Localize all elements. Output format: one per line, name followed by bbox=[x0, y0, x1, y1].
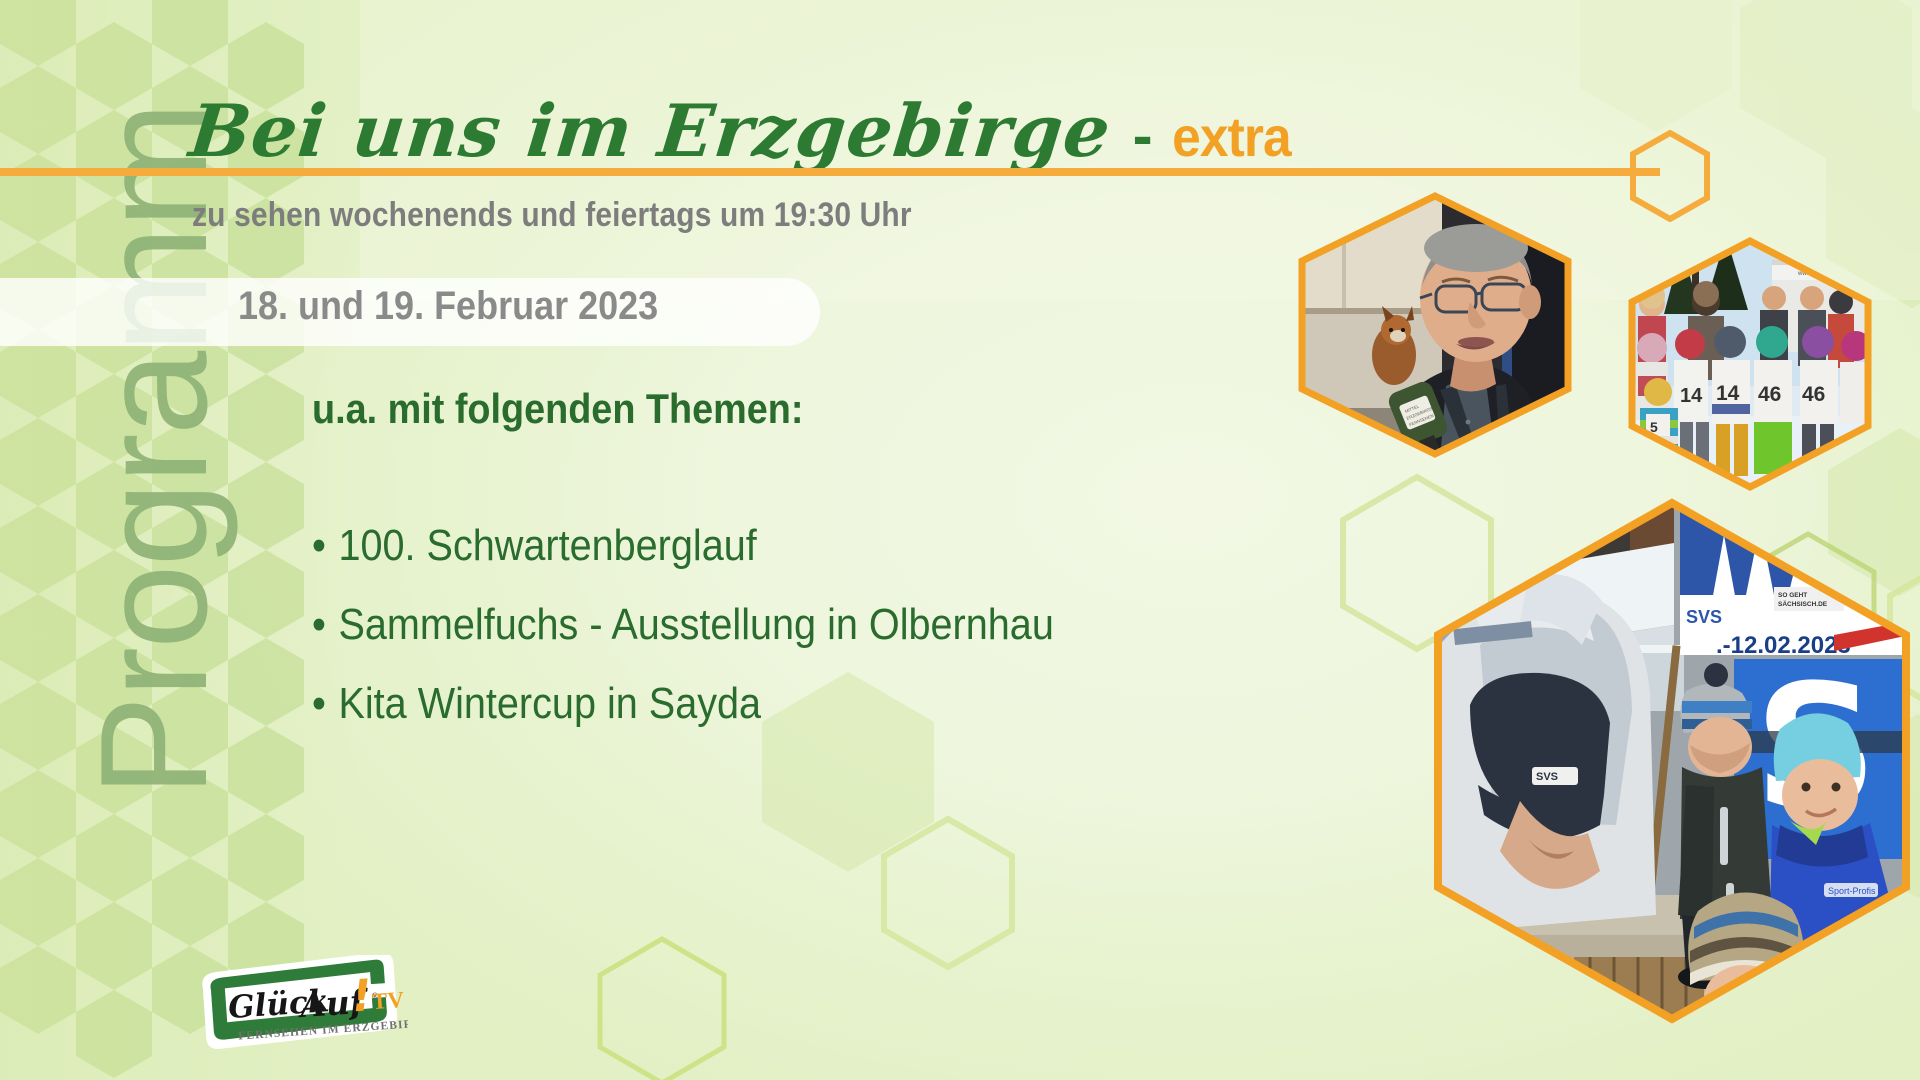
list-item: •Kita Wintercup in Sayda bbox=[312, 682, 1054, 726]
title-underline-rule bbox=[0, 168, 1660, 176]
glueckauf-tv-logo: Glück Auf ! ® TV FERNSEHEN IM ERZGEBIRGE bbox=[196, 955, 408, 1050]
title-main-text: Bei uns im Erzgebirge bbox=[186, 88, 1116, 173]
themes-heading: u.a. mit folgenden Themen: bbox=[312, 385, 803, 433]
logo-tv: TV bbox=[371, 987, 405, 1014]
title-extra-text: extra bbox=[1172, 104, 1291, 169]
date-range: 18. und 19. Februar 2023 bbox=[238, 284, 658, 329]
rule-hexagon-icon bbox=[1628, 130, 1712, 222]
bullet-icon: • bbox=[312, 682, 326, 726]
list-item: •Sammelfuchs - Ausstellung in Olbernhau bbox=[312, 603, 1054, 647]
page-title: Bei uns im Erzgebirge - extra bbox=[190, 88, 1295, 174]
logo-exclaim: ! bbox=[350, 970, 374, 1022]
bullet-icon: • bbox=[312, 603, 326, 647]
title-dash: - bbox=[1133, 101, 1153, 170]
photo-children-winter-race-bibs: www.ski-mtb-sachsen.de 14 bbox=[1622, 236, 1878, 492]
svg-text:SO GEHT: SO GEHT bbox=[1778, 592, 1807, 599]
svg-text:46: 46 bbox=[1758, 383, 1781, 406]
svg-text:SÄCHSISCH.DE: SÄCHSISCH.DE bbox=[1778, 600, 1828, 608]
svg-text:SVS: SVS bbox=[1536, 771, 1558, 783]
slide-canvas: Programm Bei uns im Erzgebirge - extra z… bbox=[0, 0, 1920, 1080]
photo-children-wintercup-sayda: SVS SO GEHT SÄCHSISCH.DE .-12.02.2023 S bbox=[1424, 495, 1920, 1025]
list-item-label: Kita Wintercup in Sayda bbox=[338, 679, 761, 728]
topics-list: •100. Schwartenberglauf •Sammelfuchs - A… bbox=[312, 524, 1136, 761]
svg-text:46: 46 bbox=[1802, 383, 1825, 406]
list-item: •100. Schwartenberglauf bbox=[312, 524, 1054, 568]
svg-text:14: 14 bbox=[1680, 385, 1703, 407]
svg-text:Sport-Profis: Sport-Profis bbox=[1828, 886, 1876, 896]
photo-interview-man-with-fox: MITTEL ERZGEBIRGS FERNSEHEN bbox=[1290, 190, 1580, 460]
list-item-label: 100. Schwartenberglauf bbox=[338, 521, 756, 570]
subtitle-broadcast-time: zu sehen wochenends und feiertags um 19:… bbox=[192, 196, 912, 235]
bullet-icon: • bbox=[312, 524, 326, 568]
svg-text:SVS: SVS bbox=[1686, 607, 1722, 627]
list-item-label: Sammelfuchs - Ausstellung in Olbernhau bbox=[338, 600, 1053, 649]
header: Bei uns im Erzgebirge - extra zu sehen w… bbox=[0, 0, 1920, 250]
svg-text:14: 14 bbox=[1716, 382, 1740, 405]
